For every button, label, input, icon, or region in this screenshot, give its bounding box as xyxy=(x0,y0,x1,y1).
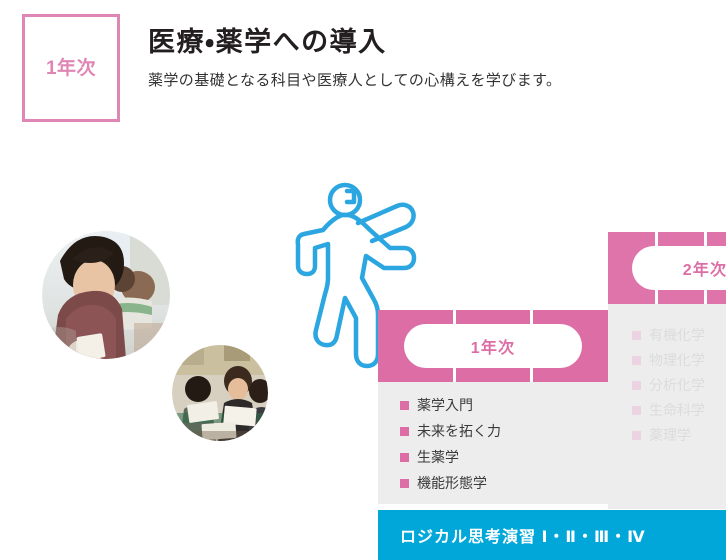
year1-pill[interactable]: 1年次 xyxy=(404,324,582,368)
bullet-square-icon xyxy=(632,356,641,365)
bullet-square-icon xyxy=(400,401,409,410)
course-label: 分析化学 xyxy=(649,378,705,392)
page-subtitle: 薬学の基礎となる科目や医療人としての心構えを学びます。 xyxy=(148,70,708,91)
bullet-square-icon xyxy=(400,427,409,436)
course-label: 薬理学 xyxy=(649,428,691,442)
list-item: 生命科学 xyxy=(632,403,726,417)
header-text-block: 医療・薬学への導入 薬学の基礎となる科目や医療人としての心構えを学びます。 xyxy=(148,26,708,91)
year2-band: 2年次 xyxy=(608,232,726,304)
course-label: 生命科学 xyxy=(649,403,705,417)
year-badge: 1年次 xyxy=(22,14,120,122)
year1-band: 1年次 xyxy=(378,310,608,382)
list-item: 分析化学 xyxy=(632,378,726,392)
logical-thinking-bar-label: ロジカル思考演習 Ⅰ・Ⅱ・Ⅲ・Ⅳ xyxy=(400,523,646,547)
list-item: 物理化学 xyxy=(632,353,726,367)
list-item: 薬理学 xyxy=(632,428,726,442)
course-label: 薬学入門 xyxy=(417,398,473,412)
year1-course-list: 薬学入門 未来を拓く力 生薬学 機能形態学 xyxy=(378,382,608,504)
logical-thinking-bar[interactable]: ロジカル思考演習 Ⅰ・Ⅱ・Ⅲ・Ⅳ xyxy=(378,510,726,560)
course-label: 機能形態学 xyxy=(417,476,487,490)
year-card-year1[interactable]: 1年次 薬学入門 未来を拓く力 生薬学 機能形態学 xyxy=(378,310,608,504)
year2-pill[interactable]: 2年次 xyxy=(632,246,726,290)
list-item: 機能形態学 xyxy=(400,476,608,490)
year-badge-label: 1年次 xyxy=(46,59,96,78)
bullet-square-icon xyxy=(400,453,409,462)
list-item: 未来を拓く力 xyxy=(400,424,608,438)
list-item: 薬学入門 xyxy=(400,398,608,412)
course-label: 物理化学 xyxy=(649,353,705,367)
curriculum-panel: 1年次 医療・薬学への導入 薬学の基礎となる科目や医療人としての心構えを学びます… xyxy=(0,0,726,560)
course-label: 未来を拓く力 xyxy=(417,424,501,438)
year-card-year2[interactable]: 2年次 有機化学 物理化学 分析化学 生命科学 xyxy=(608,232,726,509)
year1-pill-label: 1年次 xyxy=(471,334,516,358)
course-label: 有機化学 xyxy=(649,328,705,342)
bullet-square-icon xyxy=(632,331,641,340)
year2-course-list: 有機化学 物理化学 分析化学 生命科学 薬理学 xyxy=(608,304,726,509)
bullet-square-icon xyxy=(632,431,641,440)
page-title: 医療・薬学への導入 xyxy=(148,26,708,60)
bullet-square-icon xyxy=(400,479,409,488)
course-label: 生薬学 xyxy=(417,450,459,464)
photo-large xyxy=(42,231,170,359)
list-item: 有機化学 xyxy=(632,328,726,342)
list-item: 生薬学 xyxy=(400,450,608,464)
bullet-square-icon xyxy=(632,381,641,390)
photo-small xyxy=(172,345,268,441)
year2-pill-label: 2年次 xyxy=(683,256,726,280)
bullet-square-icon xyxy=(632,406,641,415)
